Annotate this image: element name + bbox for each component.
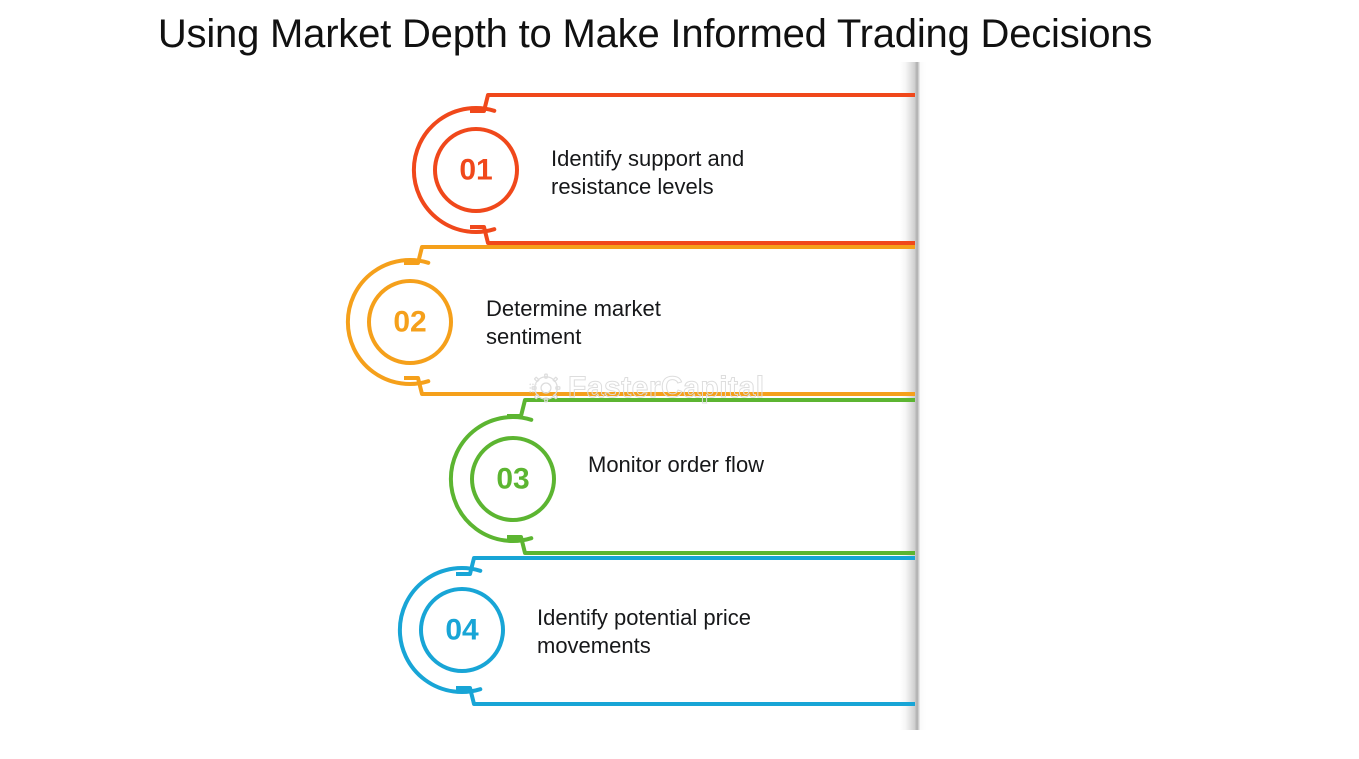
step-number: 03 (496, 463, 529, 496)
step-label-02: Determine market sentiment (486, 295, 661, 351)
step-connector-bottom (470, 227, 915, 243)
step-connector-bottom (507, 537, 915, 553)
step-number: 01 (459, 154, 492, 187)
step-connector-top (404, 247, 915, 263)
step-label-04: Identify potential price movements (537, 604, 751, 660)
step-number: 02 (393, 306, 426, 339)
step-connector-top (470, 95, 915, 111)
step-label-01: Identify support and resistance levels (551, 145, 744, 201)
step-connector-bottom (404, 378, 915, 394)
step-connector-top (456, 558, 915, 574)
infographic-canvas: Using Market Depth to Make Informed Trad… (0, 0, 1359, 759)
step-number: 04 (445, 614, 479, 647)
step-connector-bottom (456, 688, 915, 704)
step-connector-top (507, 400, 915, 416)
step-label-03: Monitor order flow (588, 451, 764, 479)
